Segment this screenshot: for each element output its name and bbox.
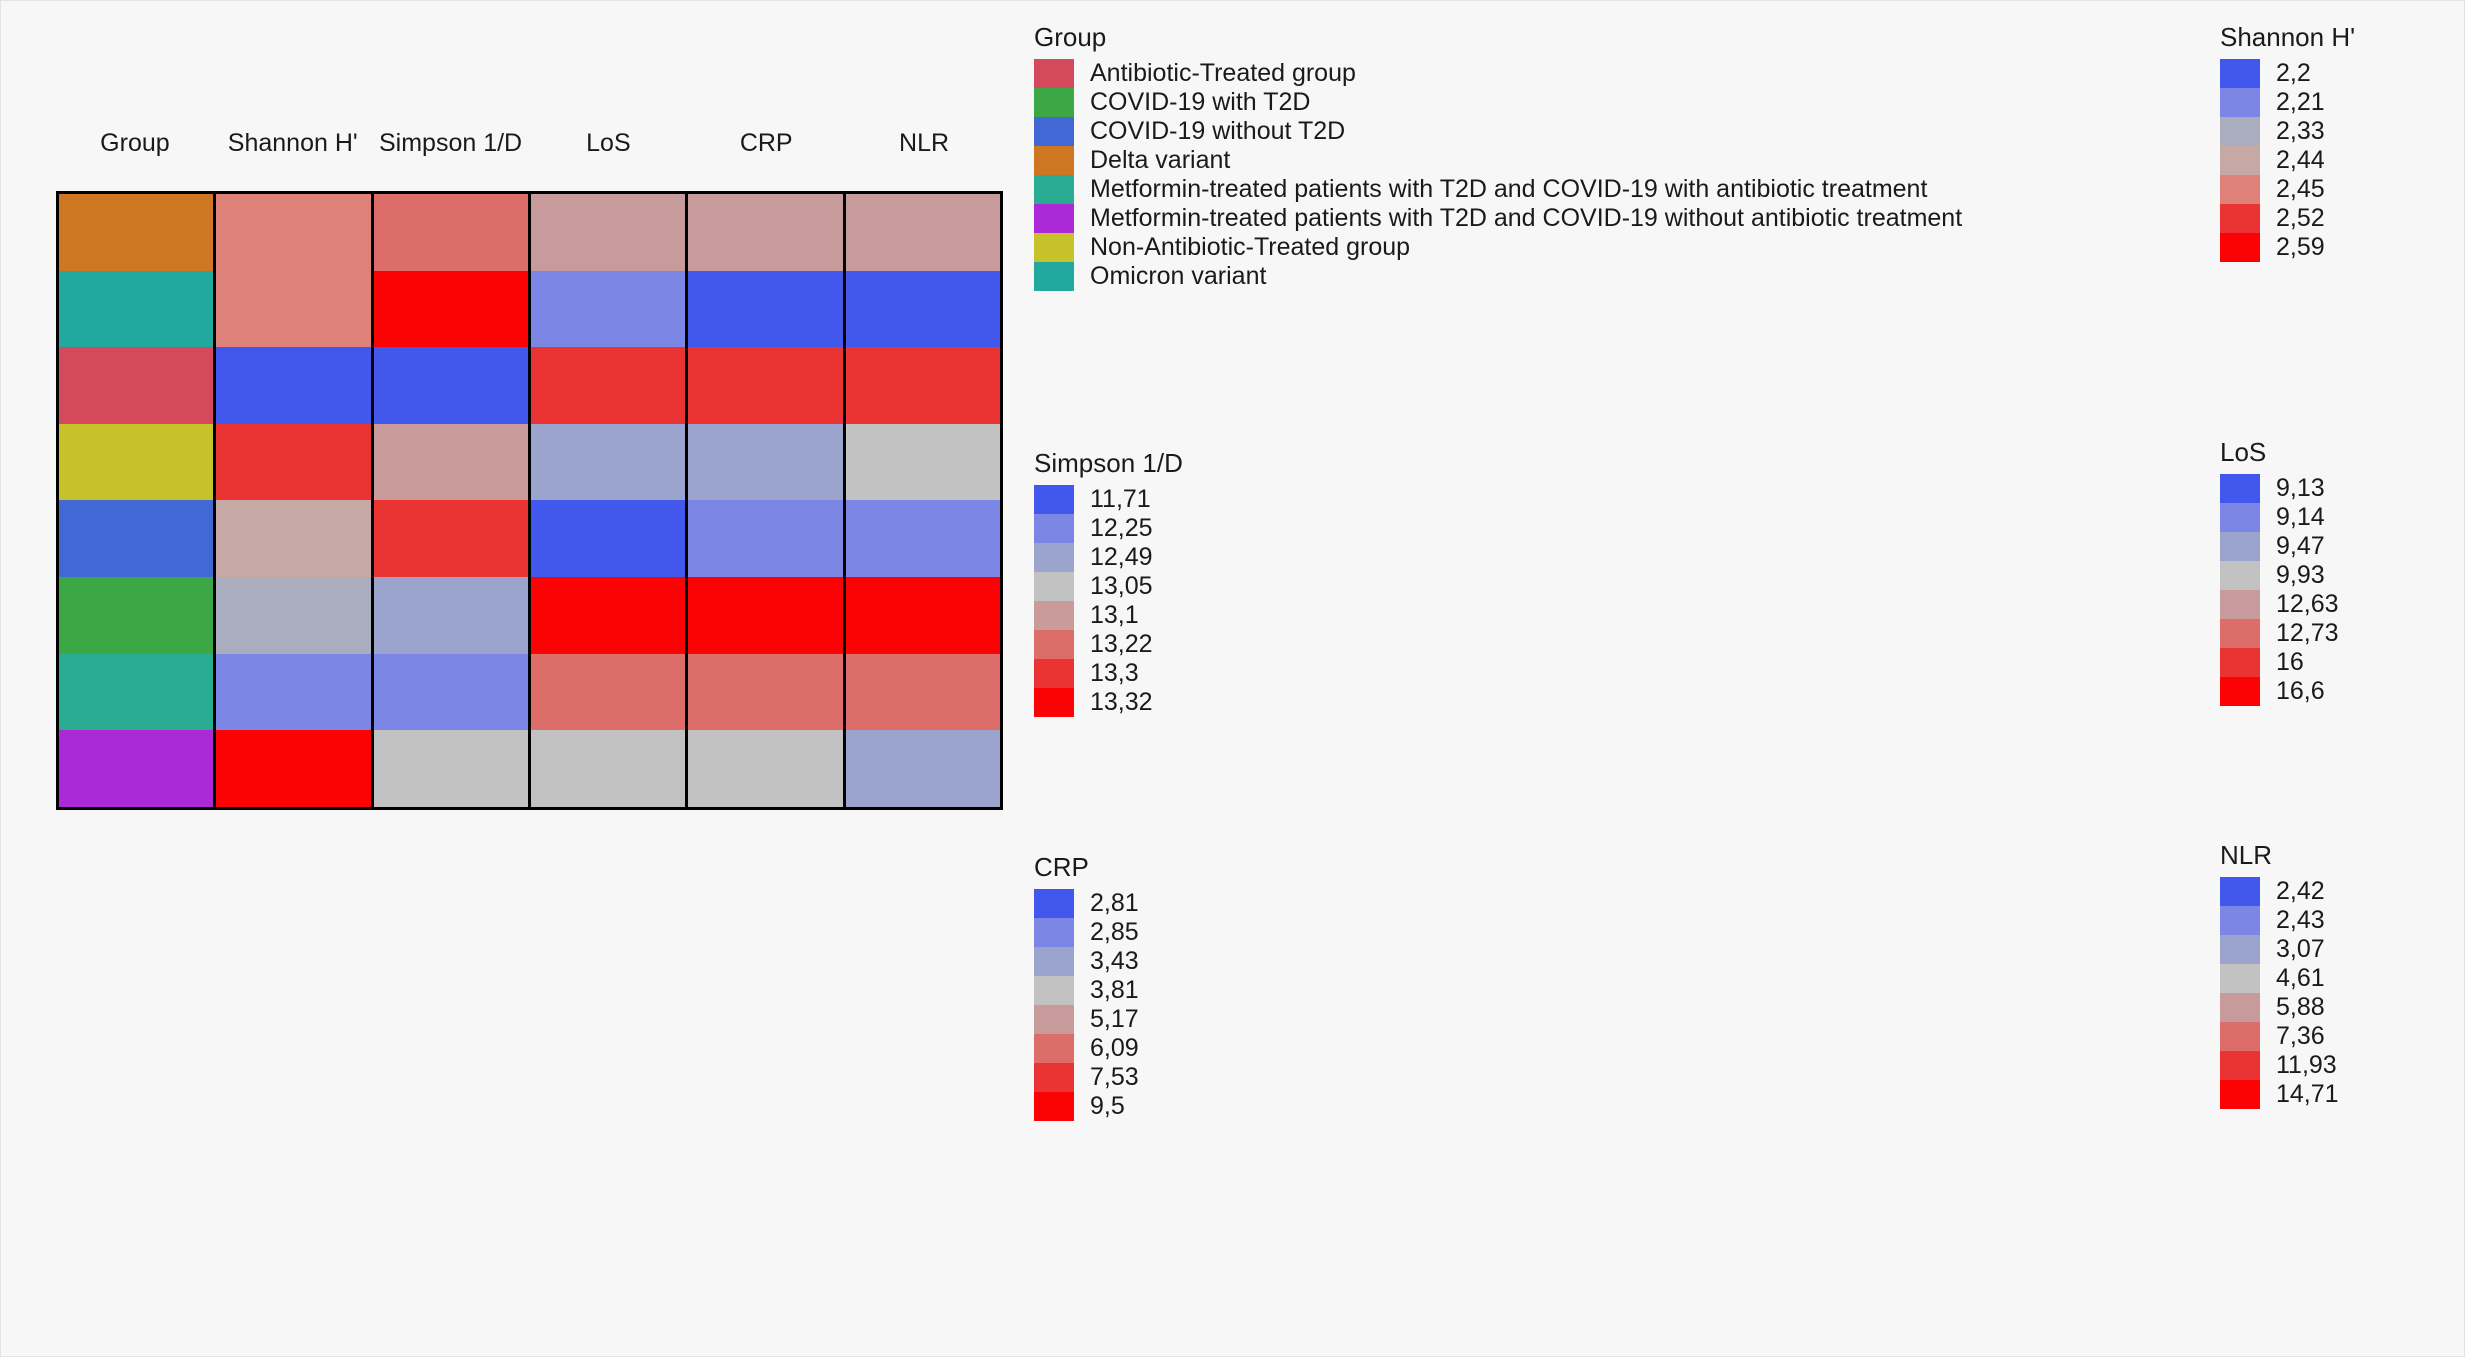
legend-item[interactable]: 9,93 (2220, 561, 2339, 590)
chart-canvas: GroupShannon H'Simpson 1/DLoSCRPNLR Grou… (0, 0, 2465, 1357)
legend-item-label: 13,05 (1090, 574, 1153, 599)
legend-swatch (1034, 1063, 1074, 1092)
heatmap-column-header: Simpson 1/D (372, 131, 530, 156)
legend-item[interactable]: 13,05 (1034, 572, 1183, 601)
heatmap-cell[interactable] (59, 654, 216, 731)
heatmap-cell[interactable] (846, 500, 1000, 577)
legend-swatch (1034, 572, 1074, 601)
legend-item-label: 2,33 (2276, 119, 2325, 144)
legend-swatch (1034, 117, 1074, 146)
legend-item[interactable]: 2,44 (2220, 146, 2355, 175)
legend-swatch (2220, 877, 2260, 906)
heatmap-column-header: Group (56, 131, 214, 156)
legend-crp: CRP 2,812,853,433,815,176,097,539,5 (1034, 853, 1139, 1121)
legend-item[interactable]: 13,32 (1034, 688, 1183, 717)
legend-swatch (2220, 233, 2260, 262)
legend-swatch (1034, 947, 1074, 976)
legend-swatch (1034, 1005, 1074, 1034)
legend-item[interactable]: 9,47 (2220, 532, 2339, 561)
legend-item[interactable]: 7,36 (2220, 1022, 2339, 1051)
legend-item-label: 13,32 (1090, 690, 1153, 715)
legend-swatch (2220, 88, 2260, 117)
legend-swatch (2220, 935, 2260, 964)
legend-item-label: 5,17 (1090, 1007, 1139, 1032)
legend-item[interactable]: 3,81 (1034, 976, 1139, 1005)
heatmap-cell[interactable] (846, 271, 1000, 348)
heatmap-cell[interactable] (374, 577, 531, 654)
heatmap-cell[interactable] (846, 730, 1000, 807)
legend-item-label: 9,93 (2276, 563, 2325, 588)
heatmap-cell[interactable] (374, 500, 531, 577)
heatmap-row (59, 654, 1000, 731)
heatmap-cell[interactable] (688, 347, 845, 424)
heatmap-cell[interactable] (59, 347, 216, 424)
heatmap-cell[interactable] (688, 654, 845, 731)
heatmap-cell[interactable] (531, 347, 688, 424)
legend-item-label: 2,81 (1090, 891, 1139, 916)
heatmap-cell[interactable] (531, 730, 688, 807)
legend-item[interactable]: 2,2 (2220, 59, 2355, 88)
legend-item[interactable]: 12,49 (1034, 543, 1183, 572)
legend-swatch (2220, 648, 2260, 677)
heatmap-cell[interactable] (846, 654, 1000, 731)
legend-swatch (2220, 1080, 2260, 1109)
legend-group: Group Antibiotic-Treated groupCOVID-19 w… (1034, 23, 1962, 291)
legend-swatch (1034, 59, 1074, 88)
heatmap-cell[interactable] (374, 347, 531, 424)
legend-item[interactable]: 12,63 (2220, 590, 2339, 619)
legend-swatch (1034, 630, 1074, 659)
legend-item-label: Delta variant (1090, 148, 1230, 173)
legend-item[interactable]: Metformin-treated patients with T2D and … (1034, 175, 1962, 204)
legend-swatch (2220, 964, 2260, 993)
legend-item[interactable]: 11,71 (1034, 485, 1183, 514)
legend-swatch (2220, 1022, 2260, 1051)
heatmap-column-header: NLR (845, 131, 1003, 156)
legend-item-label: 2,21 (2276, 90, 2325, 115)
legend-swatch (2220, 474, 2260, 503)
legend-swatch (2220, 590, 2260, 619)
legend-item-label: 2,2 (2276, 61, 2311, 86)
legend-swatch (1034, 88, 1074, 117)
legend-item-label: 3,43 (1090, 949, 1139, 974)
legend-item-label: 16,6 (2276, 679, 2325, 704)
heatmap-cell[interactable] (59, 577, 216, 654)
legend-item-label: 2,44 (2276, 148, 2325, 173)
legend-item[interactable]: 16,6 (2220, 677, 2339, 706)
legend-swatch (2220, 619, 2260, 648)
legend-item-label: 16 (2276, 650, 2304, 675)
legend-item-label: 13,1 (1090, 603, 1139, 628)
heatmap-cell[interactable] (531, 271, 688, 348)
legend-swatch (2220, 117, 2260, 146)
legend-item[interactable]: 5,17 (1034, 1005, 1139, 1034)
legend-item[interactable]: COVID-19 with T2D (1034, 88, 1962, 117)
legend-item[interactable]: 4,61 (2220, 964, 2339, 993)
legend-item[interactable]: 9,5 (1034, 1092, 1139, 1121)
heatmap-cell[interactable] (531, 500, 688, 577)
legend-item-label: 5,88 (2276, 995, 2325, 1020)
legend-item[interactable]: 2,21 (2220, 88, 2355, 117)
legend-item-label: Non-Antibiotic-Treated group (1090, 235, 1410, 260)
legend-los-items: 9,139,149,479,9312,6312,731616,6 (2220, 474, 2339, 706)
heatmap-row (59, 577, 1000, 654)
legend-nlr-items: 2,422,433,074,615,887,3611,9314,71 (2220, 877, 2339, 1109)
heatmap-cell[interactable] (59, 194, 216, 271)
legend-item-label: 2,43 (2276, 908, 2325, 933)
legend-swatch (1034, 889, 1074, 918)
legend-item[interactable]: 13,1 (1034, 601, 1183, 630)
legend-swatch (1034, 601, 1074, 630)
legend-item-label: 11,93 (2276, 1053, 2337, 1078)
legend-swatch (1034, 485, 1074, 514)
legend-swatch (1034, 543, 1074, 572)
legend-item[interactable]: 13,3 (1034, 659, 1183, 688)
heatmap-cell[interactable] (59, 730, 216, 807)
legend-swatch (2220, 532, 2260, 561)
legend-swatch (1034, 976, 1074, 1005)
legend-item-label: 2,52 (2276, 206, 2325, 231)
legend-item[interactable]: COVID-19 without T2D (1034, 117, 1962, 146)
legend-swatch (1034, 918, 1074, 947)
legend-swatch (1034, 233, 1074, 262)
heatmap-cell[interactable] (374, 194, 531, 271)
legend-item[interactable]: 12,25 (1034, 514, 1183, 543)
legend-swatch (2220, 561, 2260, 590)
heatmap-cell[interactable] (846, 347, 1000, 424)
legend-item-label: 9,14 (2276, 505, 2325, 530)
legend-item-label: 12,63 (2276, 592, 2339, 617)
legend-swatch (2220, 503, 2260, 532)
legend-item-label: Metformin-treated patients with T2D and … (1090, 206, 1962, 231)
heatmap-column-headers: GroupShannon H'Simpson 1/DLoSCRPNLR (56, 131, 1003, 191)
legend-swatch (2220, 146, 2260, 175)
legend-item-label: 12,73 (2276, 621, 2339, 646)
legend-item[interactable]: 14,71 (2220, 1080, 2339, 1109)
legend-swatch (1034, 175, 1074, 204)
legend-swatch (1034, 514, 1074, 543)
legend-item[interactable]: 9,14 (2220, 503, 2339, 532)
legend-item[interactable]: 2,43 (2220, 906, 2339, 935)
legend-item[interactable]: 2,52 (2220, 204, 2355, 233)
legend-swatch (1034, 688, 1074, 717)
legend-swatch (2220, 204, 2260, 233)
legend-item-label: 12,25 (1090, 516, 1153, 541)
legend-item-label: 9,5 (1090, 1094, 1125, 1119)
heatmap-cell[interactable] (216, 194, 373, 271)
legend-item-label: 14,71 (2276, 1082, 2339, 1107)
legend-item[interactable]: Delta variant (1034, 146, 1962, 175)
legend-group-items: Antibiotic-Treated groupCOVID-19 with T2… (1034, 59, 1962, 291)
legend-simpson-title: Simpson 1/D (1034, 449, 1183, 479)
legend-item[interactable]: 6,09 (1034, 1034, 1139, 1063)
legend-item-label: 13,3 (1090, 661, 1139, 686)
heatmap-cell[interactable] (688, 194, 845, 271)
legend-swatch (2220, 1051, 2260, 1080)
legend-simpson: Simpson 1/D 11,7112,2512,4913,0513,113,2… (1034, 449, 1183, 717)
legend-item[interactable]: Metformin-treated patients with T2D and … (1034, 204, 1962, 233)
legend-item-label: 2,42 (2276, 879, 2325, 904)
legend-shannon-title: Shannon H' (2220, 23, 2355, 53)
legend-group-title: Group (1034, 23, 1962, 53)
heatmap-cell[interactable] (216, 347, 373, 424)
heatmap-row (59, 500, 1000, 577)
legend-item-label: 2,85 (1090, 920, 1139, 945)
legend-swatch (1034, 204, 1074, 233)
heatmap-cell[interactable] (688, 577, 845, 654)
legend-item-label: Antibiotic-Treated group (1090, 61, 1356, 86)
legend-item[interactable]: 2,59 (2220, 233, 2355, 262)
legend-los: LoS 9,139,149,479,9312,6312,731616,6 (2220, 438, 2339, 706)
heatmap-cell[interactable] (531, 194, 688, 271)
heatmap-cell[interactable] (688, 271, 845, 348)
legend-swatch (2220, 59, 2260, 88)
heatmap-row (59, 347, 1000, 424)
legend-item[interactable]: Non-Antibiotic-Treated group (1034, 233, 1962, 262)
legend-item[interactable]: 5,88 (2220, 993, 2339, 1022)
heatmap-cell[interactable] (846, 577, 1000, 654)
heatmap-panel: GroupShannon H'Simpson 1/DLoSCRPNLR (56, 131, 1003, 821)
heatmap-cell[interactable] (688, 730, 845, 807)
legend-item[interactable]: 3,43 (1034, 947, 1139, 976)
legend-item-label: 13,22 (1090, 632, 1153, 657)
heatmap-cell[interactable] (216, 424, 373, 501)
heatmap-cell[interactable] (531, 577, 688, 654)
legend-item[interactable]: 12,73 (2220, 619, 2339, 648)
legend-swatch (1034, 262, 1074, 291)
legend-los-title: LoS (2220, 438, 2339, 468)
legend-item-label: 7,36 (2276, 1024, 2325, 1049)
legend-nlr-title: NLR (2220, 841, 2339, 871)
heatmap-column-header: LoS (529, 131, 687, 156)
heatmap-row (59, 194, 1000, 271)
legend-item-label: Metformin-treated patients with T2D and … (1090, 177, 1927, 202)
legend-swatch (1034, 1034, 1074, 1063)
heatmap-cell[interactable] (688, 500, 845, 577)
legend-swatch (2220, 993, 2260, 1022)
heatmap-grid (56, 191, 1003, 810)
heatmap-cell[interactable] (688, 424, 845, 501)
legend-simpson-items: 11,7112,2512,4913,0513,113,2213,313,32 (1034, 485, 1183, 717)
heatmap-cell[interactable] (216, 500, 373, 577)
legend-swatch (2220, 906, 2260, 935)
heatmap-row (59, 271, 1000, 348)
legend-nlr: NLR 2,422,433,074,615,887,3611,9314,71 (2220, 841, 2339, 1109)
heatmap-cell[interactable] (846, 424, 1000, 501)
heatmap-cell[interactable] (846, 194, 1000, 271)
legend-item[interactable]: 11,93 (2220, 1051, 2339, 1080)
legend-item-label: COVID-19 with T2D (1090, 90, 1310, 115)
heatmap-cell[interactable] (531, 424, 688, 501)
legend-item[interactable]: Antibiotic-Treated group (1034, 59, 1962, 88)
legend-item-label: 9,13 (2276, 476, 2325, 501)
legend-item-label: 2,45 (2276, 177, 2325, 202)
legend-item[interactable]: 13,22 (1034, 630, 1183, 659)
legend-item[interactable]: 2,85 (1034, 918, 1139, 947)
legend-crp-items: 2,812,853,433,815,176,097,539,5 (1034, 889, 1139, 1121)
legend-item[interactable]: 9,13 (2220, 474, 2339, 503)
legend-swatch (2220, 677, 2260, 706)
legend-item[interactable]: 2,33 (2220, 117, 2355, 146)
legend-item-label: 7,53 (1090, 1065, 1139, 1090)
heatmap-cell[interactable] (374, 424, 531, 501)
legend-item-label: COVID-19 without T2D (1090, 119, 1345, 144)
legend-swatch (1034, 1092, 1074, 1121)
legend-item-label: 3,81 (1090, 978, 1139, 1003)
legend-item-label: 12,49 (1090, 545, 1153, 570)
heatmap-cell[interactable] (374, 271, 531, 348)
heatmap-cell[interactable] (216, 730, 373, 807)
heatmap-cell[interactable] (59, 424, 216, 501)
heatmap-cell[interactable] (216, 577, 373, 654)
legend-item[interactable]: 2,45 (2220, 175, 2355, 204)
legend-shannon: Shannon H' 2,22,212,332,442,452,522,59 (2220, 23, 2355, 262)
heatmap-cell[interactable] (59, 271, 216, 348)
legend-shannon-items: 2,22,212,332,442,452,522,59 (2220, 59, 2355, 262)
heatmap-column-header: Shannon H' (214, 131, 372, 156)
heatmap-cell[interactable] (216, 271, 373, 348)
legend-crp-title: CRP (1034, 853, 1139, 883)
heatmap-cell[interactable] (216, 654, 373, 731)
heatmap-cell[interactable] (531, 654, 688, 731)
legend-item-label: 4,61 (2276, 966, 2325, 991)
heatmap-column-header: CRP (687, 131, 845, 156)
legend-item-label: 3,07 (2276, 937, 2325, 962)
legend-item[interactable]: 3,07 (2220, 935, 2339, 964)
heatmap-cell[interactable] (374, 654, 531, 731)
legend-item-label: Omicron variant (1090, 264, 1266, 289)
legend-item[interactable]: 16 (2220, 648, 2339, 677)
legend-swatch (2220, 175, 2260, 204)
legend-swatch (1034, 659, 1074, 688)
heatmap-row (59, 730, 1000, 807)
heatmap-row (59, 424, 1000, 501)
legend-item-label: 6,09 (1090, 1036, 1139, 1061)
legend-swatch (1034, 146, 1074, 175)
heatmap-cell[interactable] (59, 500, 216, 577)
legend-item[interactable]: Omicron variant (1034, 262, 1962, 291)
legend-item-label: 2,59 (2276, 235, 2325, 260)
legend-item[interactable]: 2,81 (1034, 889, 1139, 918)
legend-item-label: 11,71 (1090, 487, 1151, 512)
legend-item-label: 9,47 (2276, 534, 2325, 559)
legend-item[interactable]: 2,42 (2220, 877, 2339, 906)
legend-item[interactable]: 7,53 (1034, 1063, 1139, 1092)
heatmap-cell[interactable] (374, 730, 531, 807)
